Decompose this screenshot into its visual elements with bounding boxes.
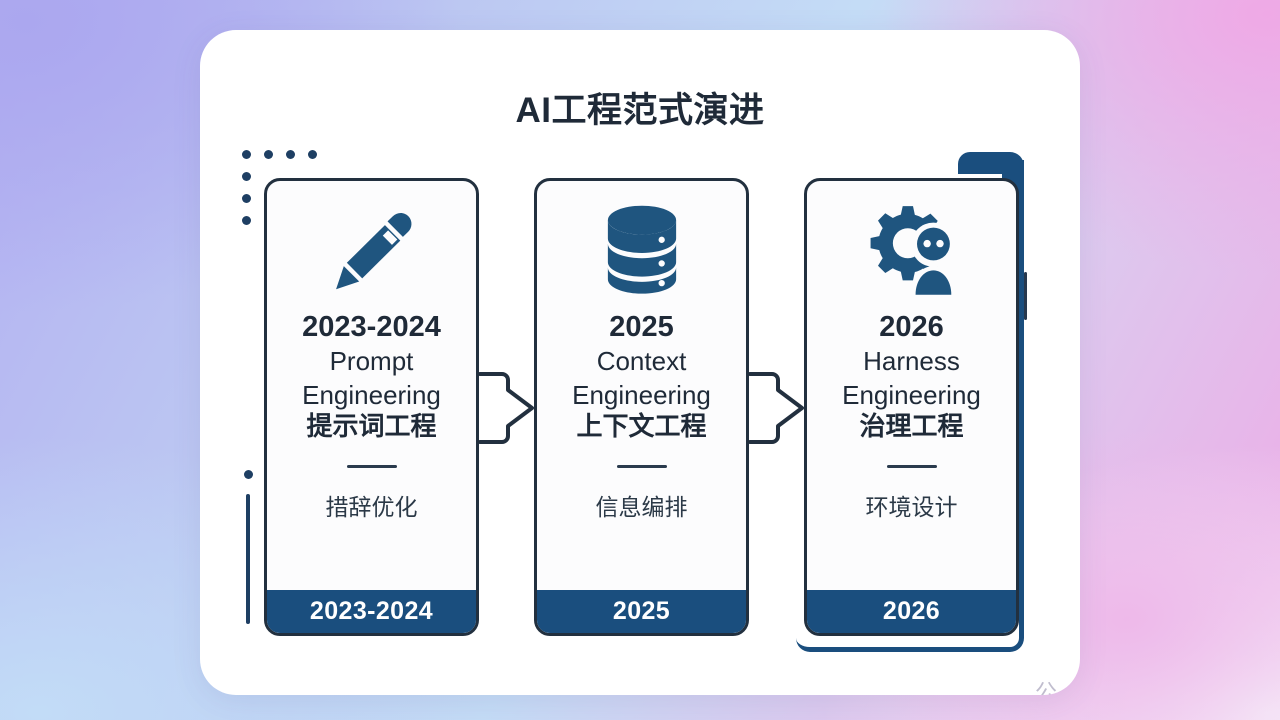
stage-en-line2: Engineering (842, 381, 981, 411)
stage-subtitle: 环境设计 (866, 488, 958, 522)
stage-card-harness-engineering[interactable]: 2026 Harness Engineering 治理工程 环境设计 2026 (804, 178, 1019, 636)
watermark: 公众号 · 杰森AI出海 (995, 675, 1080, 695)
stage-card-row: 2023-2024 Prompt Engineering 提示词工程 措辞优化 … (200, 178, 1080, 648)
stage-footer-label: 2023-2024 (267, 590, 476, 633)
stage-en-line1: Context (597, 347, 687, 377)
stage-en-line2: Engineering (302, 381, 441, 411)
stage-footer-label: 2026 (807, 590, 1016, 633)
stage-divider (617, 465, 667, 468)
stage-subtitle: 信息编排 (596, 488, 688, 522)
stage-divider (887, 465, 937, 468)
stage-en-line1: Prompt (330, 347, 414, 377)
gear-person-icon (807, 181, 1016, 316)
stage-year: 2025 (609, 312, 674, 343)
stage-cn-title: 治理工程 (859, 412, 963, 443)
pencil-icon (267, 181, 476, 316)
stage-cn-title: 提示词工程 (306, 412, 436, 443)
stage-year: 2023-2024 (302, 312, 441, 343)
watermark-text: 公众号 · 杰森AI出海 (1035, 675, 1080, 695)
page-title: AI工程范式演进 (200, 82, 1080, 133)
stage-divider (347, 465, 397, 468)
stage-en-line2: Engineering (572, 381, 711, 411)
arrow-stage2-to-stage3 (748, 368, 806, 453)
database-icon (537, 181, 746, 316)
stage-card-context-engineering[interactable]: 2025 Context Engineering 上下文工程 信息编排 2025 (534, 178, 749, 636)
stage-year: 2026 (879, 312, 944, 343)
arrow-stage1-to-stage2 (478, 368, 536, 453)
stage-cn-title: 上下文工程 (576, 412, 706, 443)
stage-footer-label: 2025 (537, 590, 746, 633)
stage-subtitle: 措辞优化 (326, 488, 418, 522)
infographic-canvas: AI工程范式演进 (200, 30, 1080, 695)
stage-card-prompt-engineering[interactable]: 2023-2024 Prompt Engineering 提示词工程 措辞优化 … (264, 178, 479, 636)
stage-en-line1: Harness (863, 347, 960, 377)
